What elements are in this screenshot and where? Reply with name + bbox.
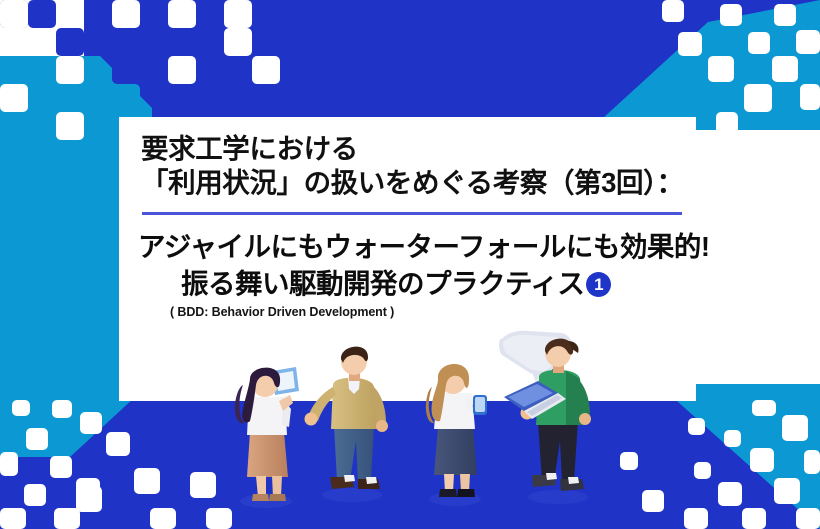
subtitle-line-1: アジャイルにもウォーターフォールにも効果的! (138, 230, 710, 264)
deco-square (196, 84, 224, 112)
deco-square (688, 418, 705, 435)
episode-badge: 1 (586, 272, 611, 297)
deco-square (750, 448, 774, 472)
deco-square (752, 400, 776, 416)
deco-square (742, 508, 766, 529)
deco-square (744, 84, 772, 112)
deco-square (772, 56, 798, 82)
deco-square (28, 0, 56, 28)
deco-square (140, 0, 168, 28)
deco-square (52, 400, 72, 418)
deco-square (26, 428, 48, 450)
deco-square (748, 32, 770, 54)
slide-canvas: 要求工学における 「利用状況」の扱いをめぐる考察（第3回）： アジャイルにもウォ… (0, 0, 820, 529)
deco-square (168, 0, 196, 28)
deco-square (168, 56, 196, 84)
deco-square (694, 462, 711, 479)
deco-square (56, 28, 84, 56)
deco-square (252, 56, 280, 84)
title-line-1: 要求工学における (141, 132, 684, 166)
deco-square (642, 490, 664, 512)
deco-square (774, 478, 800, 504)
deco-square (0, 0, 28, 28)
deco-square (112, 0, 140, 28)
deco-square (0, 28, 28, 56)
deco-square (50, 456, 72, 478)
deco-square (708, 56, 734, 82)
deco-square (720, 4, 742, 26)
deco-square (80, 412, 102, 434)
deco-square (0, 508, 26, 529)
deco-square (196, 0, 224, 28)
deco-square (224, 28, 252, 56)
deco-square (56, 56, 84, 84)
deco-square (796, 508, 820, 529)
deco-square (684, 508, 708, 529)
deco-square (716, 112, 738, 134)
deco-square (112, 84, 140, 112)
title-divider (142, 212, 682, 215)
deco-square (24, 484, 46, 506)
deco-square (678, 32, 702, 56)
deco-square (224, 0, 252, 28)
deco-square (54, 508, 80, 529)
deco-square (190, 472, 216, 498)
deco-square (774, 4, 796, 26)
deco-square (150, 508, 176, 529)
deco-square (796, 30, 820, 54)
deco-square (84, 0, 112, 28)
deco-square (0, 452, 18, 476)
deco-square (662, 0, 684, 22)
deco-square (56, 0, 84, 28)
deco-square (12, 400, 30, 416)
subtitle-line-2-text: 振る舞い駆動開発のプラクティス (181, 267, 584, 301)
deco-square (112, 56, 140, 84)
deco-square (0, 84, 28, 112)
subtitle-line-2: 振る舞い駆動開発のプラクティス 1 (181, 267, 611, 301)
deco-square (206, 508, 232, 529)
deco-square (800, 84, 820, 110)
deco-square (56, 112, 84, 140)
deco-square (134, 468, 160, 494)
deco-square (782, 415, 808, 441)
deco-square (56, 84, 84, 112)
deco-square (804, 450, 820, 474)
deco-square (620, 452, 638, 470)
title-line-2: 「利用状況」の扱いをめぐる考察（第3回）： (141, 166, 684, 200)
card-inner: 要求工学における 「利用状況」の扱いをめぐる考察（第3回）： (141, 132, 684, 200)
deco-square (724, 430, 741, 447)
deco-square (106, 432, 130, 456)
bdd-note: ( BDD: Behavior Driven Development ) (170, 305, 394, 319)
deco-square (76, 478, 100, 512)
deco-square (718, 482, 742, 506)
